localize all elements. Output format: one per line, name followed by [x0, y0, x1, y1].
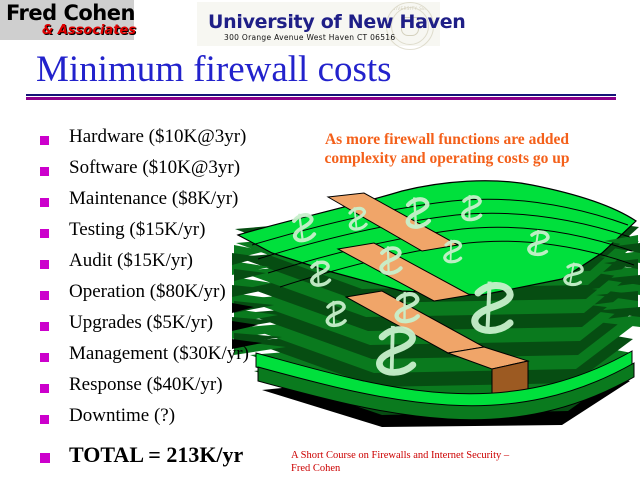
bullet-marker-icon: [40, 384, 49, 393]
list-item-label: Audit ($15K/yr): [69, 250, 193, 272]
credit-line-2: Fred Cohen: [291, 462, 591, 475]
list-item-label: Hardware ($10K@3yr): [69, 126, 246, 148]
list-item: Audit ($15K/yr): [40, 250, 320, 281]
list-item: Upgrades ($5K/yr): [40, 312, 320, 343]
bullet-marker-icon: [40, 291, 49, 300]
list-item-label: Software ($10K@3yr): [69, 157, 240, 179]
total-row: TOTAL = 213K/yr: [40, 442, 320, 476]
bullet-marker-icon: [40, 136, 49, 145]
list-item: Downtime (?): [40, 405, 320, 436]
credit-line-1: A Short Course on Firewalls and Internet…: [291, 449, 591, 462]
bullet-marker-icon: [40, 260, 49, 269]
list-item-label: Response ($40K/yr): [69, 374, 223, 396]
bullet-marker-icon: [40, 229, 49, 238]
list-item: Management ($30K/yr): [40, 343, 320, 374]
total-label: TOTAL = 213K/yr: [69, 442, 243, 468]
university-of-new-haven-logo: UNIVERSITY SEAL University of New Haven …: [197, 2, 440, 46]
university-name: University of New Haven: [208, 11, 466, 33]
bullet-marker-icon: [40, 453, 50, 463]
list-item-label: Operation ($80K/yr): [69, 281, 226, 303]
fred-cohen-logo-name: Fred Cohen: [6, 1, 135, 25]
list-item-label: Testing ($15K/yr): [69, 219, 205, 241]
fred-cohen-logo-subtitle: & Associates: [42, 23, 136, 38]
list-item-label: Downtime (?): [69, 405, 175, 427]
cost-bullet-list: Hardware ($10K@3yr) Software ($10K@3yr) …: [40, 126, 320, 476]
list-item-label: Upgrades ($5K/yr): [69, 312, 213, 334]
callout-line-1: As more firewall functions are added: [297, 130, 597, 149]
list-item: Operation ($80K/yr): [40, 281, 320, 312]
list-item-label: Management ($30K/yr): [69, 343, 249, 365]
bullet-marker-icon: [40, 167, 49, 176]
list-item: Maintenance ($8K/yr): [40, 188, 320, 219]
list-item: Software ($10K@3yr): [40, 157, 320, 188]
callout-text: As more firewall functions are added com…: [297, 130, 597, 168]
list-item: Hardware ($10K@3yr): [40, 126, 320, 157]
bullet-marker-icon: [40, 322, 49, 331]
bullet-marker-icon: [40, 353, 49, 362]
slide-credit: A Short Course on Firewalls and Internet…: [291, 449, 591, 475]
fred-cohen-logo: Fred Cohen & Associates: [0, 0, 134, 40]
page-title: Minimum firewall costs: [36, 48, 392, 91]
bullet-marker-icon: [40, 198, 49, 207]
list-item: Testing ($15K/yr): [40, 219, 320, 250]
list-item: Response ($40K/yr): [40, 374, 320, 405]
list-item-label: Maintenance ($8K/yr): [69, 188, 238, 210]
bullet-marker-icon: [40, 415, 49, 424]
callout-line-2: complexity and operating costs go up: [297, 149, 597, 168]
slide-canvas: Fred Cohen & Associates UNIVERSITY SEAL …: [0, 0, 640, 480]
title-rule-navy: [26, 94, 616, 96]
title-rule-purple: [26, 97, 616, 100]
university-address: 300 Orange Avenue West Haven CT 06516: [224, 33, 395, 42]
